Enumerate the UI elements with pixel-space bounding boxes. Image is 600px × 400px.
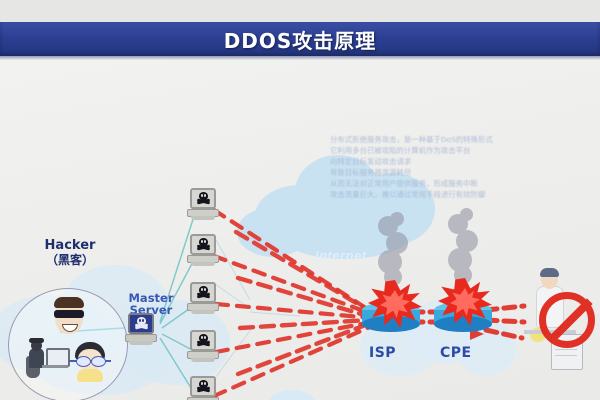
note-line: 从而无法对正常用户提供服务，形成服务中断 [330,178,580,189]
cpe-label: CPE [440,345,472,361]
smoke-plume-isp [372,212,418,288]
note-line: 攻击流量巨大，难以通过常规手段进行有效防御 [330,189,580,200]
letterbox-top [0,0,600,22]
skull-icon [134,317,149,331]
hacker-label: Hacker （黑客） [24,238,116,268]
note-line: 它利用多台已被攻陷的计算机作为攻击平台 [330,145,580,156]
isp-label: ISP [369,345,396,361]
skull-icon [196,286,211,300]
zombie-node[interactable] [190,376,220,400]
hacker-label-cn: （黑客） [24,253,116,268]
hacker-accomplice-icon [68,342,112,382]
skull-icon [196,380,211,394]
zombie-node[interactable] [190,330,220,363]
skull-icon [196,192,211,206]
zombie-node[interactable] [190,282,220,315]
zombie-node[interactable] [190,188,220,221]
note-line: 分布式拒绝服务攻击，是一种基于DoS的特殊形式 [330,134,580,145]
page-title: DDOS攻击原理 [224,25,377,54]
slide-stage: DDOS攻击原理 Internet [0,0,600,400]
zombie-node[interactable] [190,234,220,267]
note-line: 向特定目标发动攻击请求 [330,156,580,167]
background-notes: 分布式拒绝服务攻击，是一种基于DoS的特殊形式 它利用多台已被攻陷的计算机作为攻… [330,134,580,200]
note-line: 导致目标服务器资源耗尽 [330,167,580,178]
no-entry-icon [539,292,595,348]
hacker-face-icon [52,298,86,338]
internet-label: Internet [315,248,367,263]
master-server-node[interactable] [128,313,158,346]
skull-icon [196,238,211,252]
skull-icon [196,334,211,348]
smoke-plume-cpe [440,208,486,288]
hacker-label-en: Hacker [45,238,96,253]
title-banner: DDOS攻击原理 [0,22,600,56]
slide-body: Internet [0,60,600,400]
zombie-cloud [238,390,348,400]
hacker-operator-icon [22,338,68,382]
